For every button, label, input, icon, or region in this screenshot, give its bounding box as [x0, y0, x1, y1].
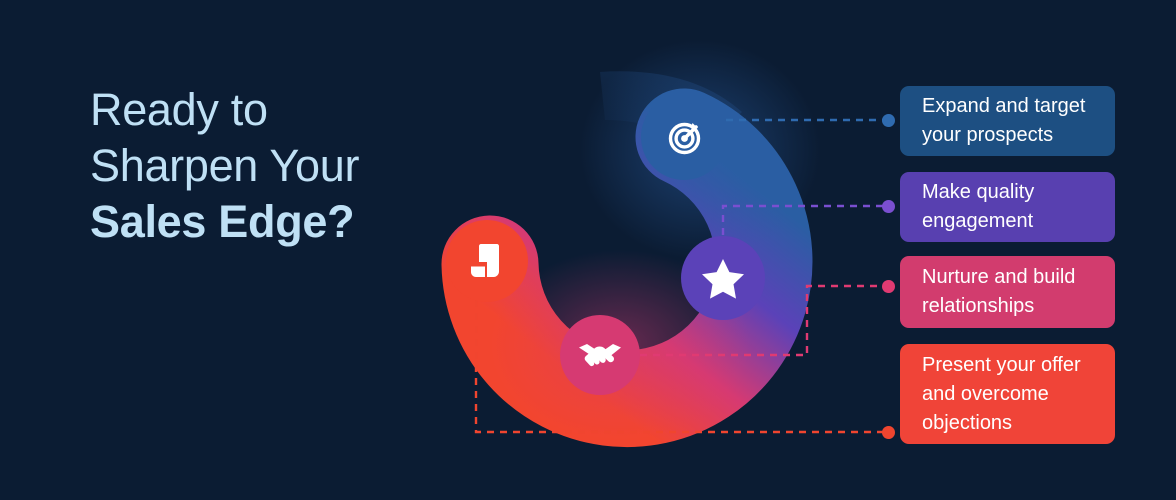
- step-label-box-3[interactable]: Nurture and build relationships: [900, 256, 1115, 328]
- step-label-text-3: Nurture and build relationships: [922, 263, 1093, 321]
- step-label-text-4: Present your offer and overcome objectio…: [922, 351, 1093, 438]
- step-icon-star[interactable]: [681, 236, 765, 320]
- connector-dot-4: [882, 426, 895, 439]
- step-icon-handshake[interactable]: [560, 315, 640, 395]
- step-label-text-1: Expand and target your prospects: [922, 92, 1093, 150]
- connector-dot-1: [882, 114, 895, 127]
- step-label-box-4[interactable]: Present your offer and overcome objectio…: [900, 344, 1115, 444]
- handshake-icon: [578, 338, 622, 372]
- infographic-canvas: Ready to Sharpen Your Sales Edge?: [0, 0, 1176, 500]
- star-icon: [701, 257, 745, 299]
- step-label-box-2[interactable]: Make quality engagement: [900, 172, 1115, 242]
- step-icon-target[interactable]: [641, 94, 727, 180]
- connector-dot-3: [882, 280, 895, 293]
- target-icon: [662, 115, 706, 159]
- document-icon: [466, 240, 508, 282]
- connector-dot-2: [882, 200, 895, 213]
- step-label-box-1[interactable]: Expand and target your prospects: [900, 86, 1115, 156]
- step-icon-document[interactable]: [446, 220, 528, 302]
- step-label-text-2: Make quality engagement: [922, 178, 1093, 236]
